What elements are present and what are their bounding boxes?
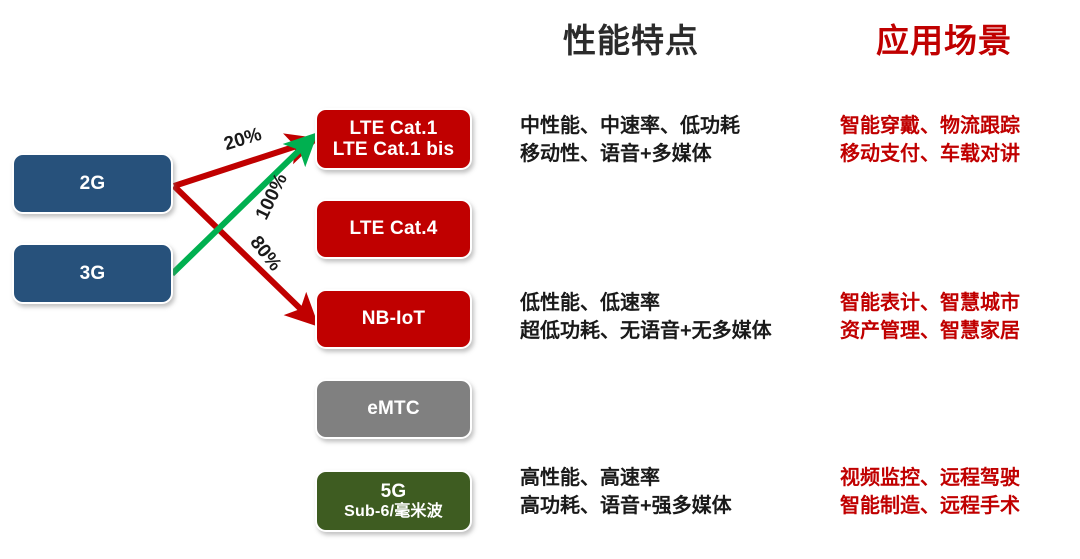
features-line2-nb-iot: 超低功耗、无语音+无多媒体 xyxy=(520,318,772,346)
features-line1-5g: 高性能、高速率 xyxy=(520,465,732,493)
node-lte-cat4[interactable]: LTE Cat.4 xyxy=(315,199,472,259)
node-3g[interactable]: 3G xyxy=(12,243,173,304)
features-text-nb-iot: 低性能、低速率 超低功耗、无语音+无多媒体 xyxy=(520,290,772,345)
scenarios-text-5g: 视频监控、远程驾驶 智能制造、远程手术 xyxy=(840,465,1020,520)
scenarios-line1-nb-iot: 智能表计、智慧城市 xyxy=(840,290,1020,318)
node-lte-cat1-label-line1: LTE Cat.1 xyxy=(349,118,437,139)
column-header-scenarios: 应用场景 xyxy=(876,14,1012,62)
features-line2-lte-cat1: 移动性、语音+多媒体 xyxy=(520,141,740,169)
node-5g-label-line1: 5G xyxy=(381,481,407,502)
node-2g[interactable]: 2G xyxy=(12,153,173,214)
node-emtc-label: eMTC xyxy=(367,398,420,419)
scenarios-line1-5g: 视频监控、远程驾驶 xyxy=(840,465,1020,493)
features-text-lte-cat1: 中性能、中速率、低功耗 移动性、语音+多媒体 xyxy=(520,113,740,168)
column-header-features: 性能特点 xyxy=(563,14,699,62)
features-line1-lte-cat1: 中性能、中速率、低功耗 xyxy=(520,113,740,141)
scenarios-line2-nb-iot: 资产管理、智慧家居 xyxy=(840,318,1020,346)
node-5g[interactable]: 5G Sub-6/毫米波 xyxy=(315,470,472,532)
features-text-5g: 高性能、高速率 高功耗、语音+强多媒体 xyxy=(520,465,732,520)
node-nb-iot[interactable]: NB-IoT xyxy=(315,289,472,349)
node-3g-label: 3G xyxy=(80,263,106,284)
features-line1-nb-iot: 低性能、低速率 xyxy=(520,290,772,318)
scenarios-line2-lte-cat1: 移动支付、车载对讲 xyxy=(840,141,1020,169)
scenarios-line1-lte-cat1: 智能穿戴、物流跟踪 xyxy=(840,113,1020,141)
node-lte-cat1[interactable]: LTE Cat.1 LTE Cat.1 bis xyxy=(315,108,472,170)
node-lte-cat4-label: LTE Cat.4 xyxy=(349,218,437,239)
node-2g-label: 2G xyxy=(80,173,106,194)
node-5g-label-line2: Sub-6/毫米波 xyxy=(344,503,443,521)
diagram-canvas: 20% 100% 80% 2G 3G LTE Cat.1 LTE Cat.1 b… xyxy=(0,0,1080,559)
scenarios-text-nb-iot: 智能表计、智慧城市 资产管理、智慧家居 xyxy=(840,290,1020,345)
node-lte-cat1-label-line2: LTE Cat.1 bis xyxy=(333,139,455,160)
node-emtc[interactable]: eMTC xyxy=(315,379,472,439)
scenarios-line2-5g: 智能制造、远程手术 xyxy=(840,493,1020,521)
scenarios-text-lte-cat1: 智能穿戴、物流跟踪 移动支付、车载对讲 xyxy=(840,113,1020,168)
node-nb-iot-label: NB-IoT xyxy=(362,308,425,329)
features-line2-5g: 高功耗、语音+强多媒体 xyxy=(520,493,732,521)
